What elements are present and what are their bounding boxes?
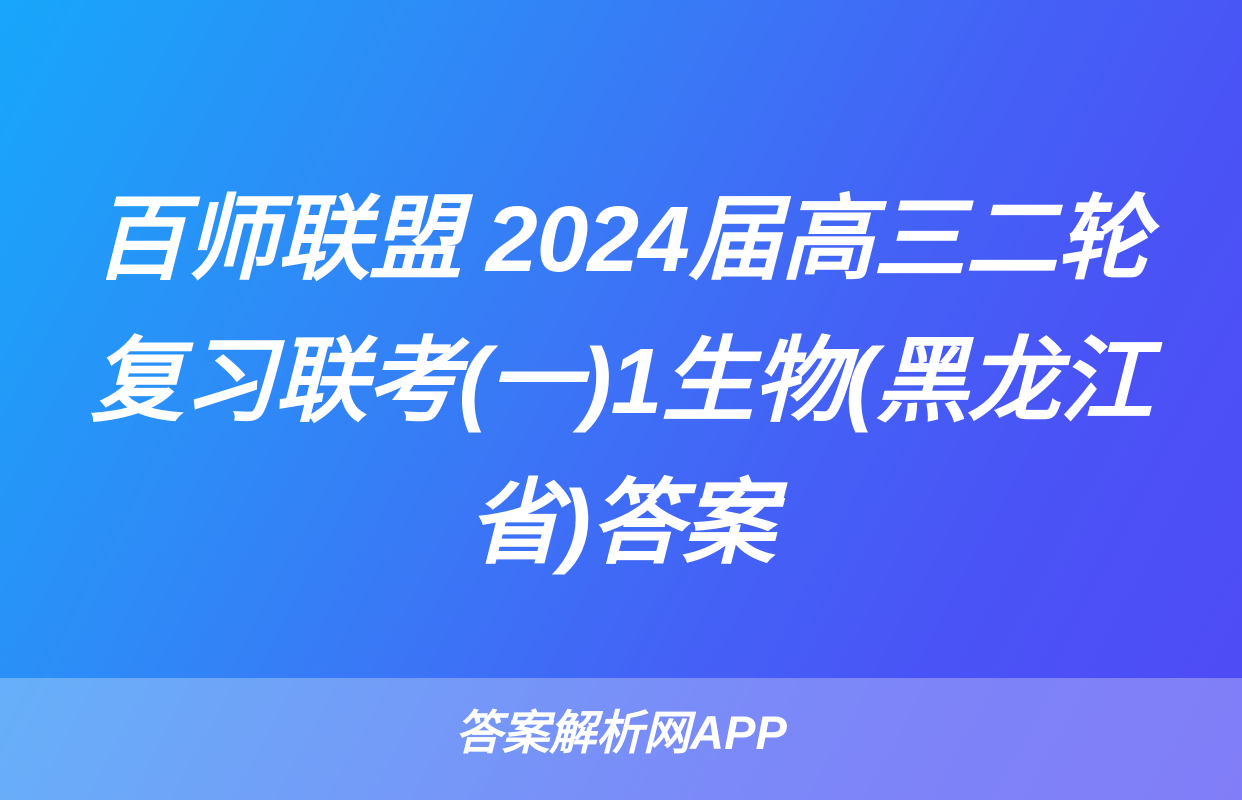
answer-cover-canvas: 百师联盟 2024届高三二轮复习联考(一)1生物(黑龙江省)答案 答案解析网AP… (0, 0, 1242, 800)
page-title: 百师联盟 2024届高三二轮复习联考(一)1生物(黑龙江省)答案 (70, 168, 1172, 594)
watermark-label: 答案解析网APP (0, 704, 1242, 762)
